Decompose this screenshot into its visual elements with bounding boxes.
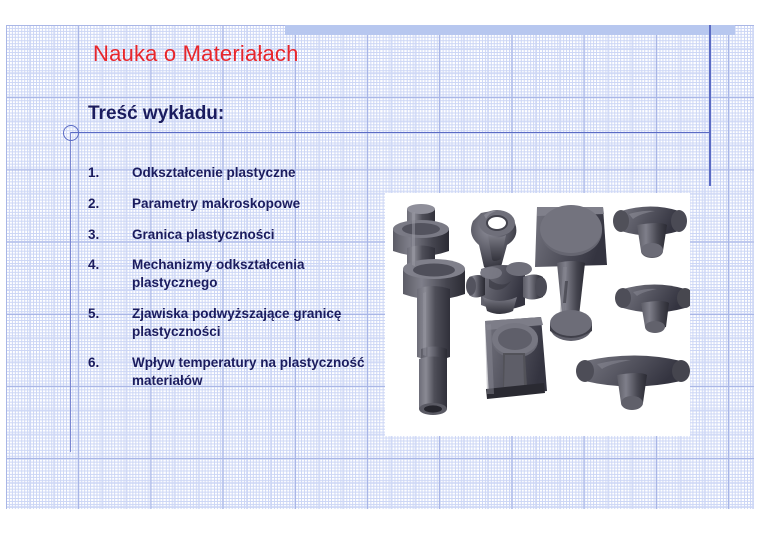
list-item-number: 1. — [88, 164, 132, 182]
top-accent-bar — [285, 25, 735, 35]
list-item: 5. Zjawiska podwyższające granicę plasty… — [88, 305, 373, 341]
list-item: 6. Wpływ temperatury na plastyczność mat… — [88, 354, 373, 390]
list-item-label: Wpływ temperatury na plastyczność materi… — [132, 354, 373, 390]
list-item-number: 6. — [88, 354, 132, 390]
right-vertical-accent-line — [709, 25, 711, 186]
list-item-number: 5. — [88, 305, 132, 341]
list-item-label: Granica plastyczności — [132, 226, 373, 244]
list-item: 4. Mechanizmy odkształcenia plastycznego — [88, 256, 373, 292]
list-item-label: Mechanizmy odkształcenia plastycznego — [132, 256, 373, 292]
part-square-block-with-boss — [485, 317, 547, 399]
forged-steel-parts-photo — [385, 193, 690, 436]
list-item-label: Odkształcenie plastyczne — [132, 164, 373, 182]
heading-underline-accent — [70, 132, 710, 133]
circle-accent-icon — [63, 125, 79, 141]
left-vertical-accent-line — [70, 132, 71, 452]
list-item-label: Zjawiska podwyższające granicę plastyczn… — [132, 305, 373, 341]
slide-title: Nauka o Materiałach — [93, 41, 299, 67]
list-item-label: Parametry makroskopowe — [132, 195, 373, 213]
agenda-list: 1. Odkształcenie plastyczne 2. Parametry… — [88, 164, 373, 402]
list-item: 3. Granica plastyczności — [88, 226, 373, 244]
list-item: 1. Odkształcenie plastyczne — [88, 164, 373, 182]
list-item-number: 3. — [88, 226, 132, 244]
list-item-number: 4. — [88, 256, 132, 292]
list-item: 2. Parametry makroskopowe — [88, 195, 373, 213]
list-item-number: 2. — [88, 195, 132, 213]
section-heading: Treść wykładu: — [88, 103, 224, 125]
